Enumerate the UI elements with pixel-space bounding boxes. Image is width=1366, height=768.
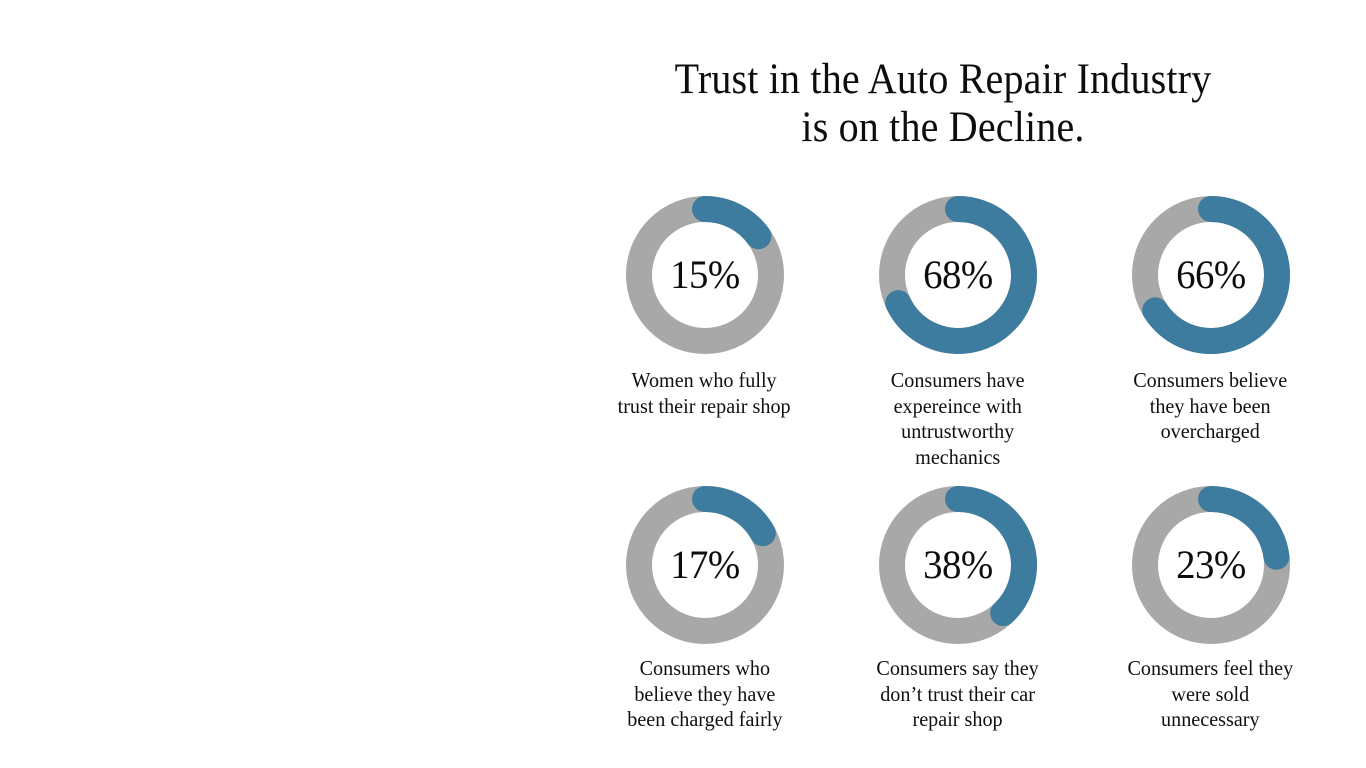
content-panel: Trust in the Auto Repair Industry is on …	[578, 0, 1366, 768]
donut-chart-17: 17%	[626, 486, 784, 644]
caption-line: trust their repair shop	[618, 394, 791, 420]
donut-chart-68: 68%	[879, 196, 1037, 354]
stat-card-overcharged: 66% Consumers believe they have been ove…	[1084, 196, 1337, 445]
caption-line: repair shop	[876, 707, 1038, 733]
donut-chart-23: 23%	[1132, 486, 1290, 644]
caption-line: they have been	[1134, 394, 1288, 420]
caption-line: been charged fairly	[627, 707, 782, 733]
donut-svg	[626, 486, 784, 644]
caption-line: expereince with	[891, 394, 1025, 420]
stat-card-sold-unnecessary: 23% Consumers feel they were sold unnece…	[1084, 486, 1337, 733]
donut-chart-66: 66%	[1132, 196, 1290, 354]
caption-line: mechanics	[891, 445, 1025, 471]
stat-caption: Consumers say they don’t trust their car…	[876, 656, 1038, 733]
donut-value-arc	[1211, 499, 1276, 557]
page-title: Trust in the Auto Repair Industry is on …	[578, 56, 1308, 152]
donut-value-arc	[705, 499, 763, 533]
donut-svg	[1132, 196, 1290, 354]
caption-line: Consumers feel they	[1128, 656, 1294, 682]
caption-line: believe they have	[627, 682, 782, 708]
donut-svg	[879, 486, 1037, 644]
stat-caption: Consumers believe they have been overcha…	[1134, 368, 1288, 445]
caption-line: overcharged	[1134, 419, 1288, 445]
stat-card-women-fully-trust: 15% Women who fully trust their repair s…	[578, 196, 831, 419]
page-title-line-1: Trust in the Auto Repair Industry	[604, 56, 1283, 104]
stats-row-top: 15% Women who fully trust their repair s…	[578, 196, 1338, 470]
caption-line: unnecessary	[1128, 707, 1294, 733]
infographic-canvas: Trust in the Auto Repair Industry is on …	[0, 0, 1366, 768]
donut-value-arc	[958, 499, 1024, 613]
caption-line: Women who fully	[618, 368, 791, 394]
caption-line: don’t trust their car	[876, 682, 1038, 708]
donut-chart-38: 38%	[879, 486, 1037, 644]
caption-line: untrustworthy	[891, 419, 1025, 445]
donut-svg	[879, 196, 1037, 354]
donut-svg	[1132, 486, 1290, 644]
donut-chart-15: 15%	[626, 196, 784, 354]
stat-caption: Consumers who believe they have been cha…	[627, 656, 782, 733]
stat-caption: Consumers feel they were sold unnecessar…	[1128, 656, 1294, 733]
stat-card-dont-trust-repair-shop: 38% Consumers say they don’t trust their…	[831, 486, 1084, 733]
stats-row-bottom: 17% Consumers who believe they have been…	[578, 486, 1338, 733]
caption-line: were sold	[1128, 682, 1294, 708]
stats-grid: 15% Women who fully trust their repair s…	[578, 196, 1338, 733]
caption-line: Consumers who	[627, 656, 782, 682]
stat-caption: Consumers have expereince with untrustwo…	[891, 368, 1025, 470]
stat-caption: Women who fully trust their repair shop	[618, 368, 791, 419]
caption-line: Consumers say they	[876, 656, 1038, 682]
caption-line: Consumers have	[891, 368, 1025, 394]
caption-line: Consumers believe	[1134, 368, 1288, 394]
page-title-line-2: is on the Decline.	[604, 104, 1283, 152]
donut-svg	[626, 196, 784, 354]
stat-card-charged-fairly: 17% Consumers who believe they have been…	[578, 486, 831, 733]
stat-card-untrustworthy-mechanics: 68% Consumers have expereince with untru…	[831, 196, 1084, 470]
